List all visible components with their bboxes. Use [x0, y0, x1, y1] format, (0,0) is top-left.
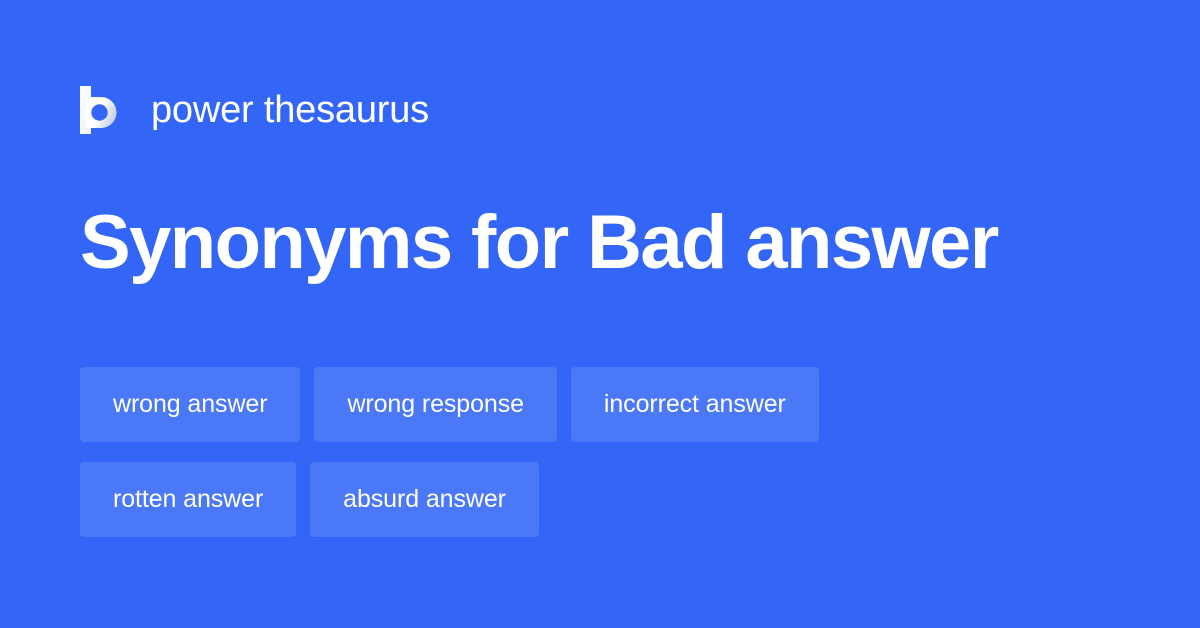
share-card: power thesaurus Synonyms for Bad answer … — [0, 0, 1200, 628]
tag-row: rotten answer absurd answer — [80, 462, 1120, 537]
brand-name: power thesaurus — [151, 91, 429, 129]
tag-row: wrong answer wrong response incorrect an… — [80, 367, 1120, 442]
power-thesaurus-b-logo-icon — [80, 86, 122, 134]
brand-header[interactable]: power thesaurus — [80, 82, 429, 138]
synonym-tag[interactable]: wrong answer — [80, 367, 300, 442]
page-title: Synonyms for Bad answer — [80, 202, 998, 284]
synonym-tag[interactable]: rotten answer — [80, 462, 296, 537]
synonym-tag[interactable]: absurd answer — [310, 462, 539, 537]
synonym-tag[interactable]: wrong response — [314, 367, 556, 442]
synonym-tag-list: wrong answer wrong response incorrect an… — [80, 367, 1120, 537]
synonym-tag[interactable]: incorrect answer — [571, 367, 819, 442]
